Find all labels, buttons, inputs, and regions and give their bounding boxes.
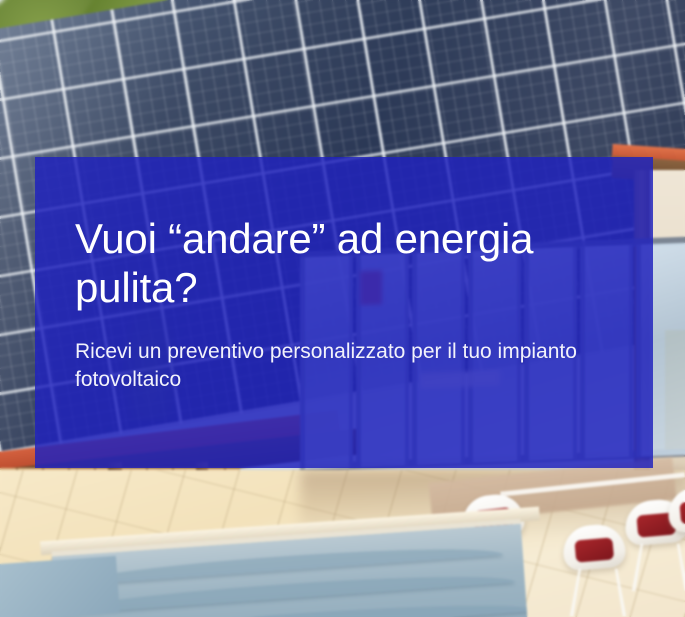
chair-legs [570,569,626,616]
pool-edge [0,556,120,617]
chair-cushion [679,499,685,524]
hero-headline: Vuoi “andare” ad energia pulita? [75,215,613,312]
hero-subheadline: Ricevi un preventivo personalizzato per … [75,338,595,393]
chair-cushion [574,537,614,562]
hero-overlay-card: Vuoi “andare” ad energia pulita? Ricevi … [35,157,653,468]
hero-banner: Vuoi “andare” ad energia pulita? Ricevi … [0,0,685,617]
